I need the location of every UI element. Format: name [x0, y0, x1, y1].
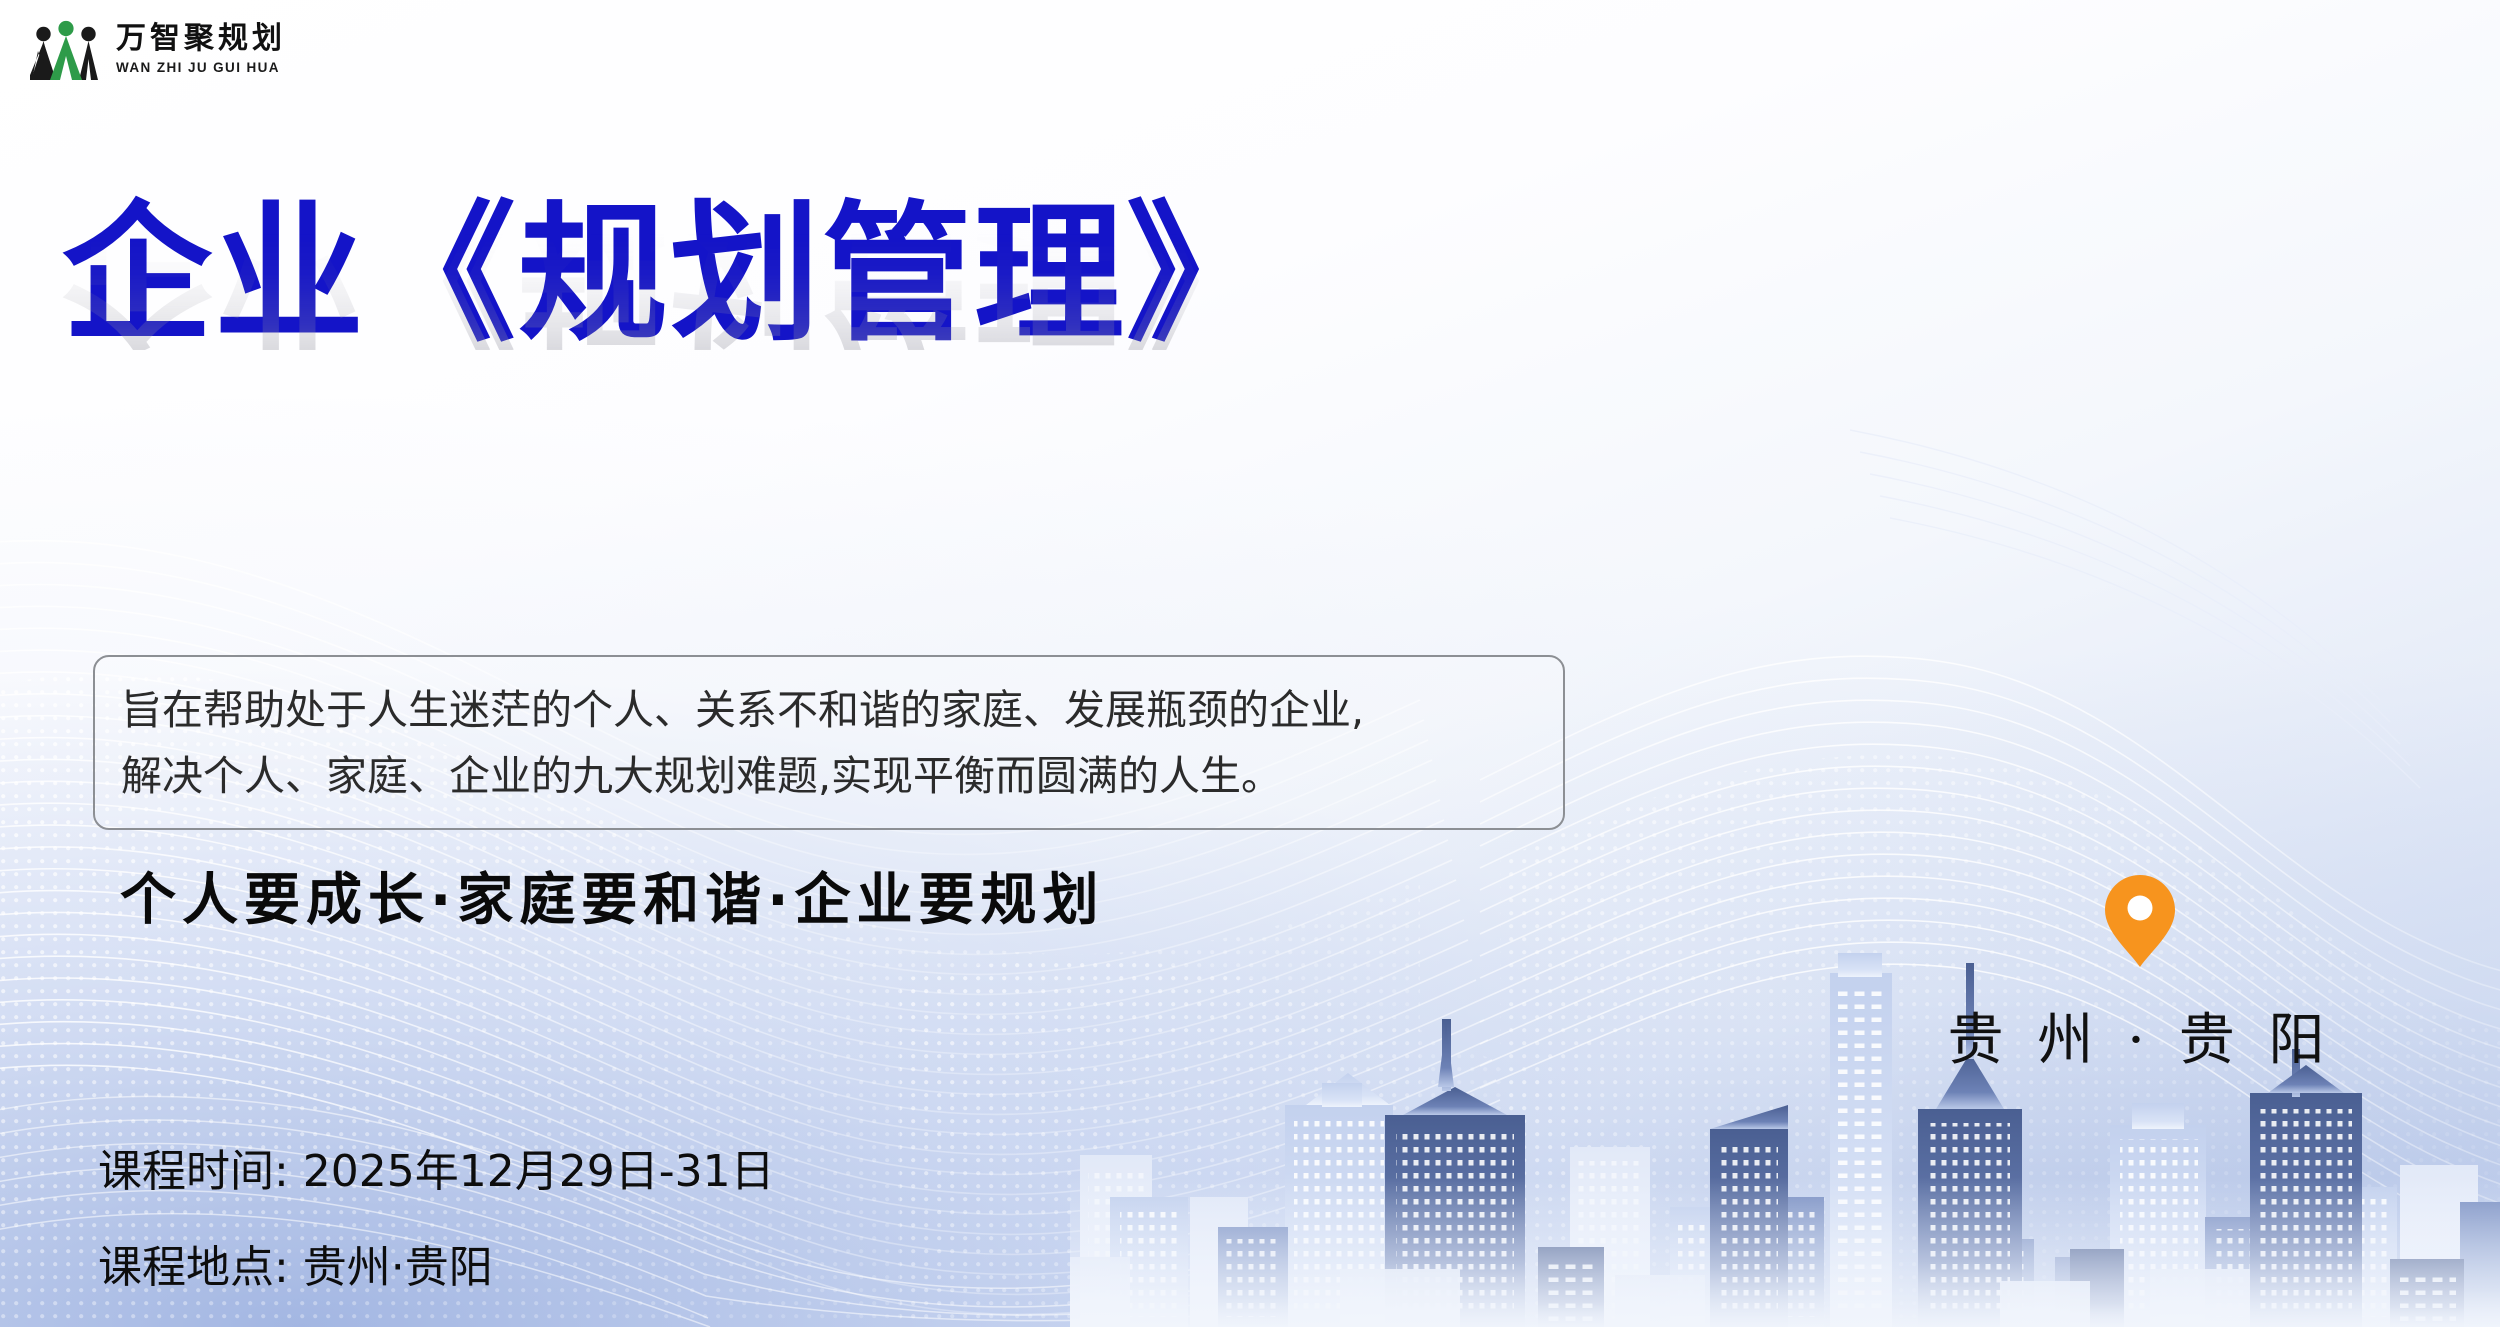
brand-name-en: WAN ZHI JU GUI HUA [116, 61, 286, 75]
hero-title-block: 企业《规划管理》 企业《规划管理》 [62, 200, 1278, 468]
course-place-row: 课程地点: 贵州·贵阳 [98, 1231, 775, 1295]
page-title-reflection: 企业《规划管理》 [62, 232, 1278, 350]
course-time-row: 课程时间: 2025年12月29日-31日 [98, 1135, 775, 1199]
description-box: 旨在帮助处于人生迷茫的个人、关系不和谐的家庭、发展瓶颈的企业, 解决个人、家庭、… [93, 655, 1565, 830]
description-line-2: 解决个人、家庭、企业的九大规划难题,实现平衡而圆满的人生。 [121, 743, 1537, 809]
poster-canvas: 万智聚规划 WAN ZHI JU GUI HUA 企业《规划管理》 企业《规划管… [0, 0, 2500, 1327]
city-fade-overlay [1070, 1177, 2500, 1327]
brand-name-cn: 万智聚规划 [116, 24, 286, 54]
brand-text: 万智聚规划 WAN ZHI JU GUI HUA [116, 24, 286, 75]
description-line-1: 旨在帮助处于人生迷茫的个人、关系不和谐的家庭、发展瓶颈的企业, [121, 677, 1537, 743]
three-people-logo-icon [30, 18, 102, 80]
slogan-text: 个人要成长·家庭要和谐·企业要规划 [120, 855, 1105, 936]
location-block: 贵 州 · 贵 阳 [1950, 875, 2330, 1076]
brand-logo: 万智聚规划 WAN ZHI JU GUI HUA [30, 18, 286, 80]
map-pin-icon [2105, 875, 2175, 967]
location-label: 贵 州 · 贵 阳 [1948, 995, 2333, 1076]
course-info-block: 课程时间: 2025年12月29日-31日 课程地点: 贵州·贵阳 [98, 1135, 775, 1295]
